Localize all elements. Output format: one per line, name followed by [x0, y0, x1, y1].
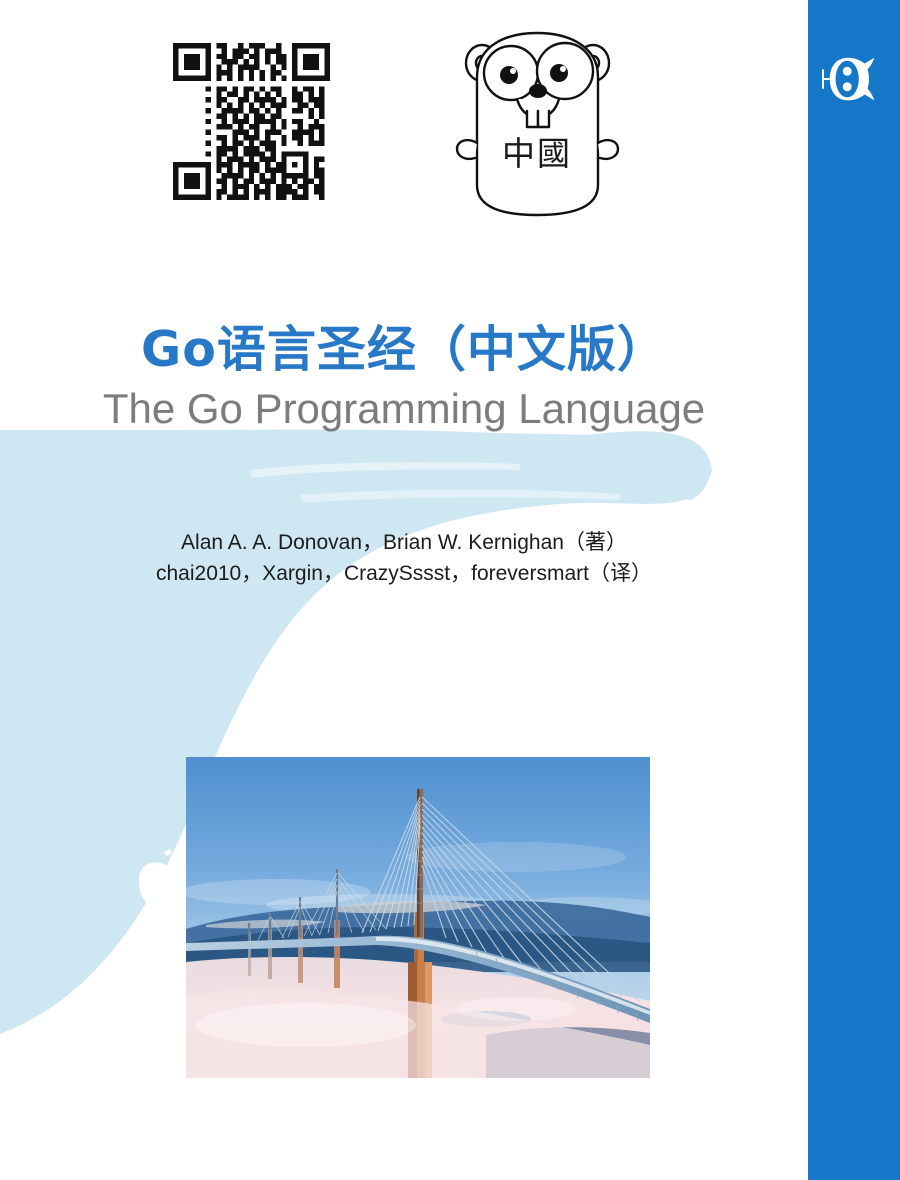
book-cover: 中國 Go语言圣经（中文版） The Go Programming Langua… [0, 0, 900, 1180]
page-subtitle-english: The Go Programming Language [0, 385, 808, 433]
authors-line-translators: chai2010，Xargin，CrazySssst，foreversmart（… [0, 558, 808, 589]
page-title-chinese: Go语言圣经（中文版） [0, 310, 808, 381]
spine-bar: http://github.com/golang-china/gopl-zh [808, 0, 900, 1180]
bridge-photo [186, 757, 650, 1078]
github-octocat-icon [822, 48, 884, 110]
gopher-belly-label: 中國 [497, 132, 577, 176]
qr-code [173, 28, 330, 215]
authors-block: Alan A. A. Donovan，Brian W. Kernighan（著）… [0, 527, 808, 589]
authors-line-original: Alan A. A. Donovan，Brian W. Kernighan（著） [0, 527, 808, 558]
go-gopher-icon [455, 25, 620, 220]
